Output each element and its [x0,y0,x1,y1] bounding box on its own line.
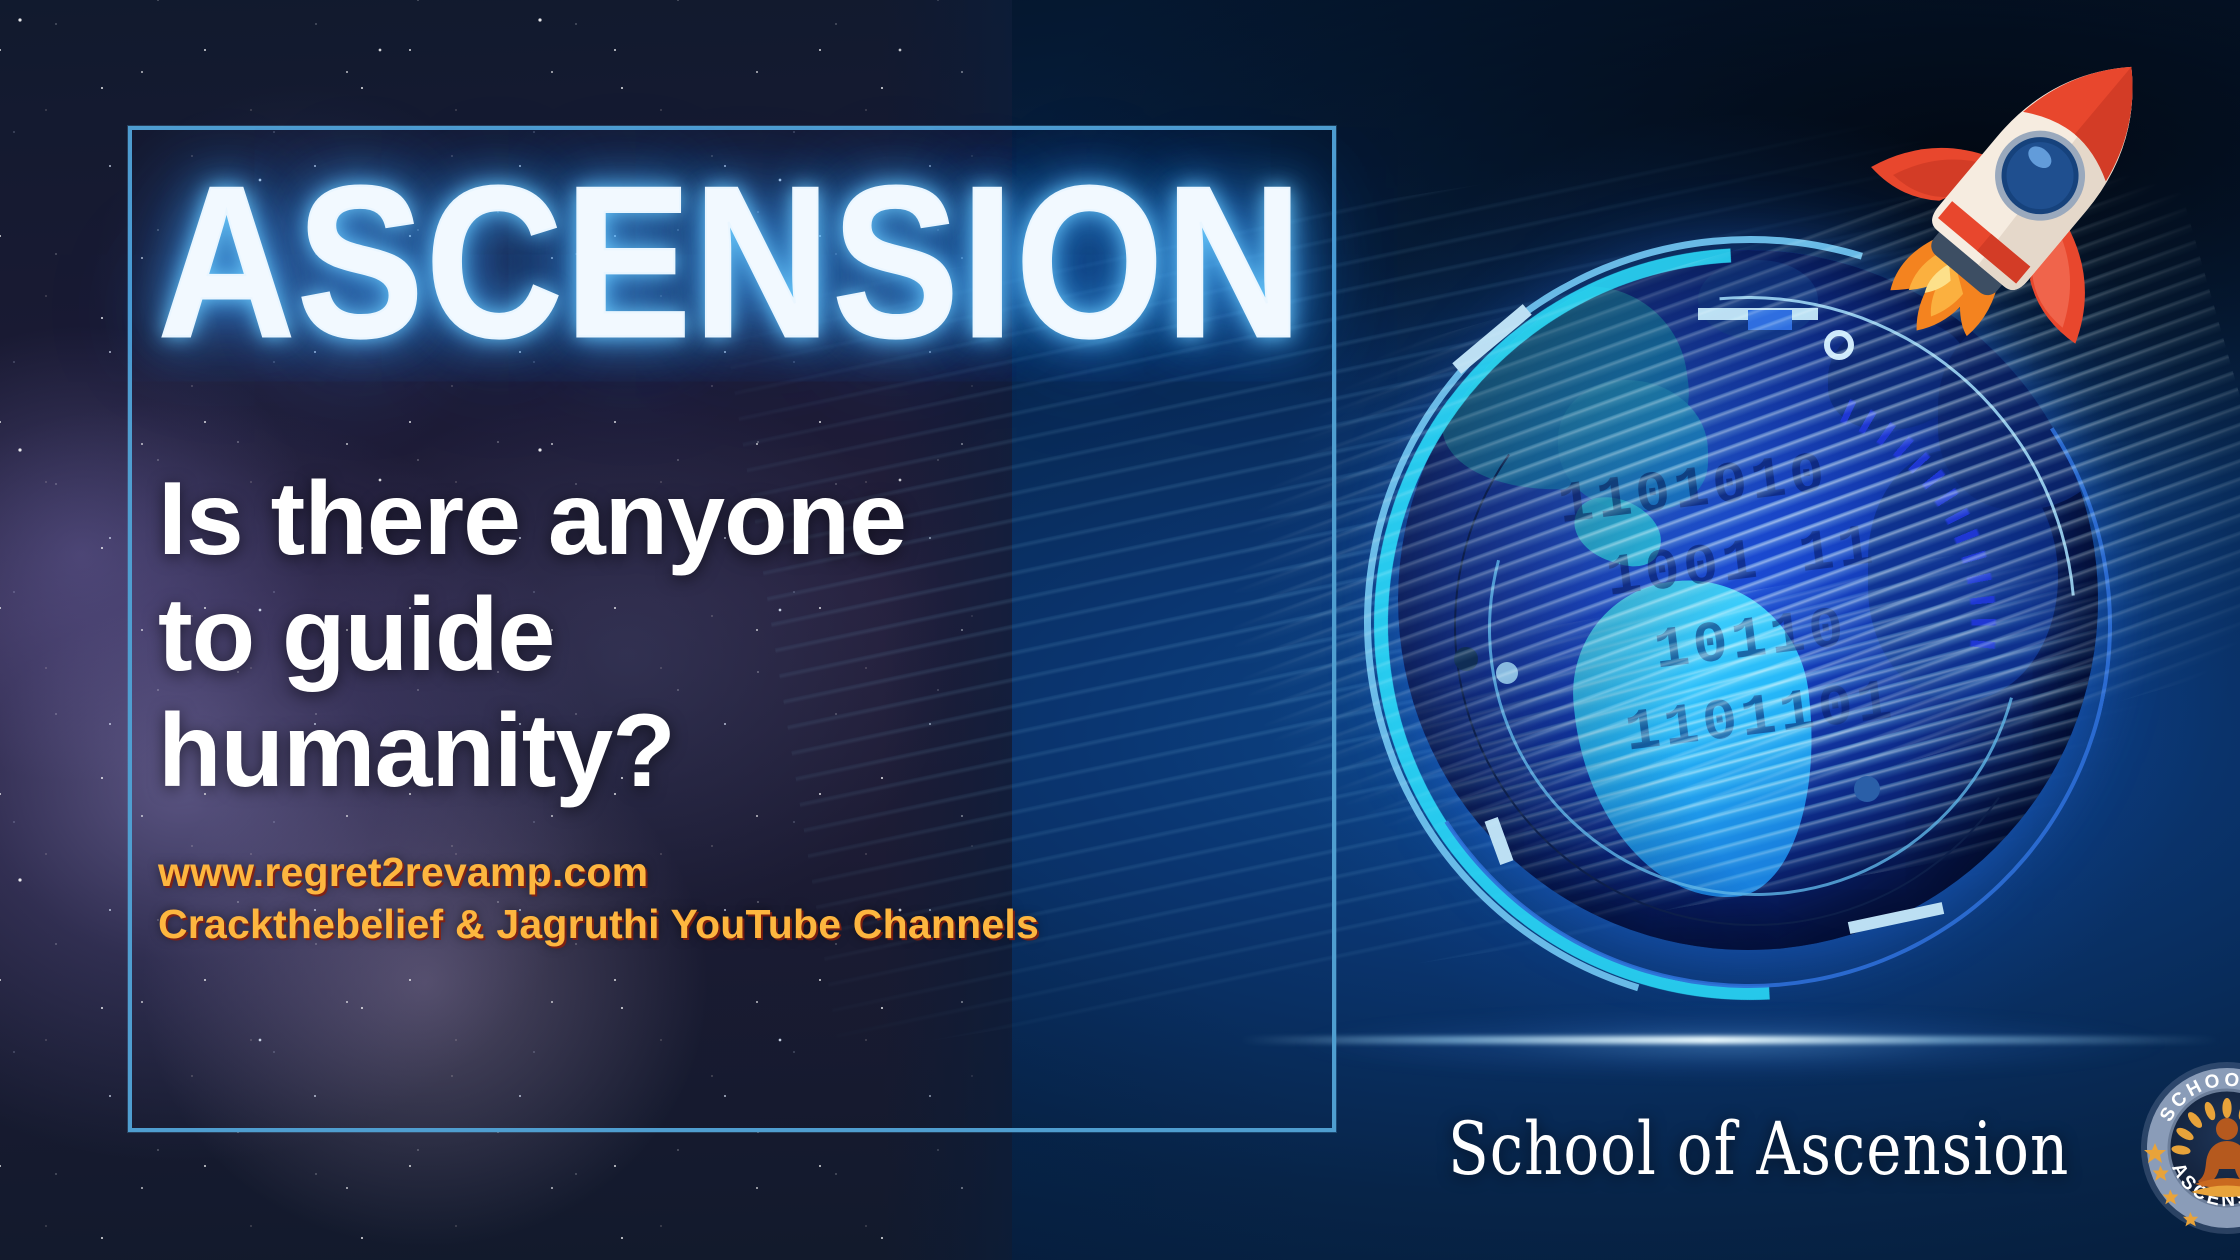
rocket-illustration [1820,18,2220,378]
headline-line-2: to guide [158,577,1338,693]
channels-link[interactable]: Crackthebelief & Jagruthi YouTube Channe… [158,898,1338,950]
website-link[interactable]: www.regret2revamp.com [158,846,1338,898]
hud-node-light [1496,662,1518,684]
links-block: www.regret2revamp.com Crackthebelief & J… [158,846,1338,951]
hud-segment-5 [1748,310,1792,330]
brand-name: School of Ascension [1448,1105,2069,1191]
copy-block: ASCENSION Is there anyone to guide human… [158,160,1338,951]
brand-row: School of Ascension SCHOOL OF [1448,1060,2240,1236]
page-title: ASCENSION [158,160,1362,367]
headline: Is there anyone to guide humanity? [158,461,1338,810]
school-of-ascension-badge-icon: SCHOOL OF ASCENSION [2139,1060,2240,1236]
headline-line-1: Is there anyone [158,461,1338,577]
hud-node-dark [1854,776,1880,802]
lens-flare-line [1240,1036,2220,1044]
headline-line-3: humanity? [158,693,1338,809]
poster-canvas: 1101010 1001 11 10110 1101101 [0,0,2240,1260]
hud-node-navy [1454,647,1478,671]
